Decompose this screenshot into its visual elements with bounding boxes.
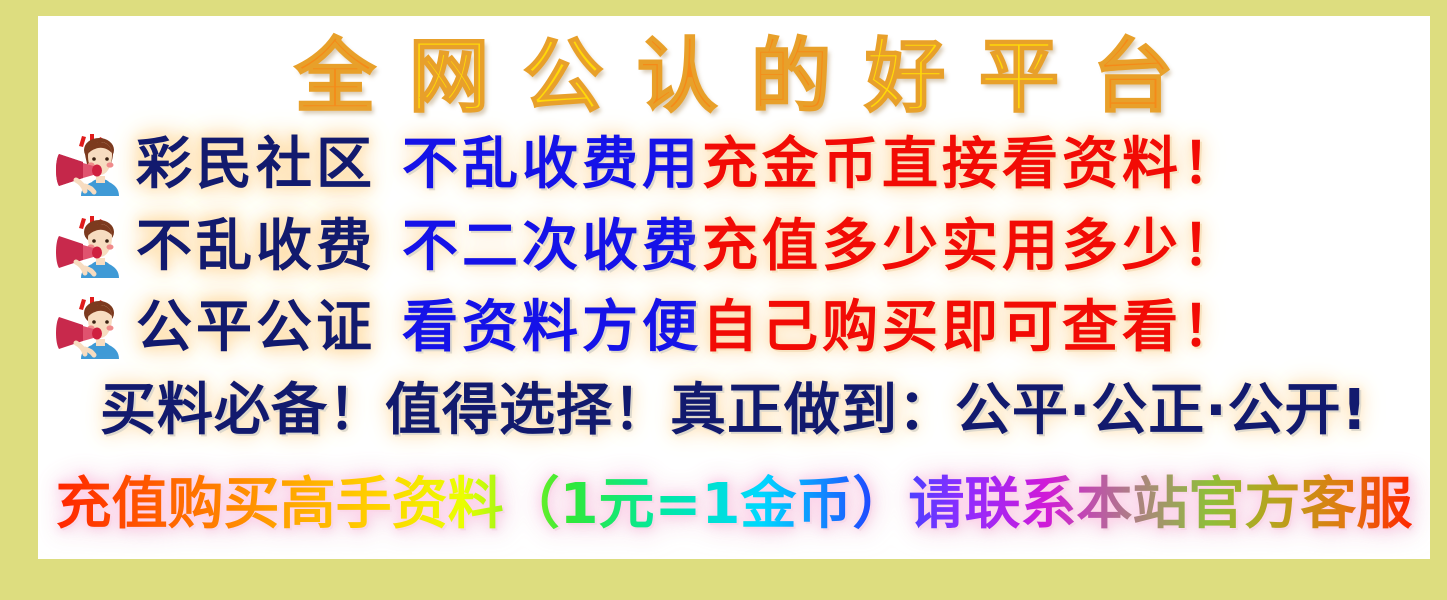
headline-char-4: 认	[620, 27, 734, 127]
headline-char-6: 好	[848, 27, 962, 127]
headline-char-5: 的	[734, 27, 848, 127]
banner-inner: 全 网 公 认 的 好 平 台	[38, 16, 1430, 559]
headline-char-1: 全	[278, 27, 392, 127]
cta-line: 充值购买高手资料（1元=1金币）请联系本站官方客服	[38, 466, 1430, 544]
row-3-part-3: 自己购买即可查看！	[702, 292, 1242, 364]
row-3-part-2: 看资料方便	[402, 292, 702, 364]
headline-char-2: 网	[392, 27, 506, 127]
row-1-part-2: 不乱收费用	[402, 129, 702, 201]
row-2-part-1: 不乱收费	[136, 211, 376, 283]
megaphone-man-icon	[52, 212, 126, 282]
row-1-part-1: 彩民社区	[136, 129, 376, 201]
slogan-line: 买料必备！值得选择！真正做到：公平·公正·公开!	[38, 372, 1430, 450]
feature-row-2: 不乱收费 不二次收费 充值多少实用多少！	[38, 208, 1430, 286]
slogan-text: 买料必备！值得选择！真正做到：公平·公正·公开!	[100, 375, 1368, 447]
cta-text: 充值购买高手资料（1元=1金币）请联系本站官方客服	[56, 468, 1413, 542]
headline-char-3: 公	[506, 27, 620, 127]
promo-banner: 全 网 公 认 的 好 平 台	[0, 0, 1447, 600]
row-2-part-2: 不二次收费	[402, 211, 702, 283]
headline-char-7: 平	[962, 27, 1076, 127]
page-title: 全 网 公 认 的 好 平 台	[38, 26, 1430, 128]
row-2-part-3: 充值多少实用多少！	[702, 211, 1242, 283]
feature-row-1: 彩民社区 不乱收费用 充金币直接看资料！	[38, 126, 1430, 204]
headline-char-8: 台	[1076, 27, 1190, 127]
megaphone-man-icon	[52, 130, 126, 200]
feature-row-3: 公平公证 看资料方便 自己购买即可查看！	[38, 289, 1430, 367]
row-1-part-3: 充金币直接看资料！	[702, 129, 1242, 201]
row-3-part-1: 公平公证	[136, 292, 376, 364]
megaphone-man-icon	[52, 293, 126, 363]
